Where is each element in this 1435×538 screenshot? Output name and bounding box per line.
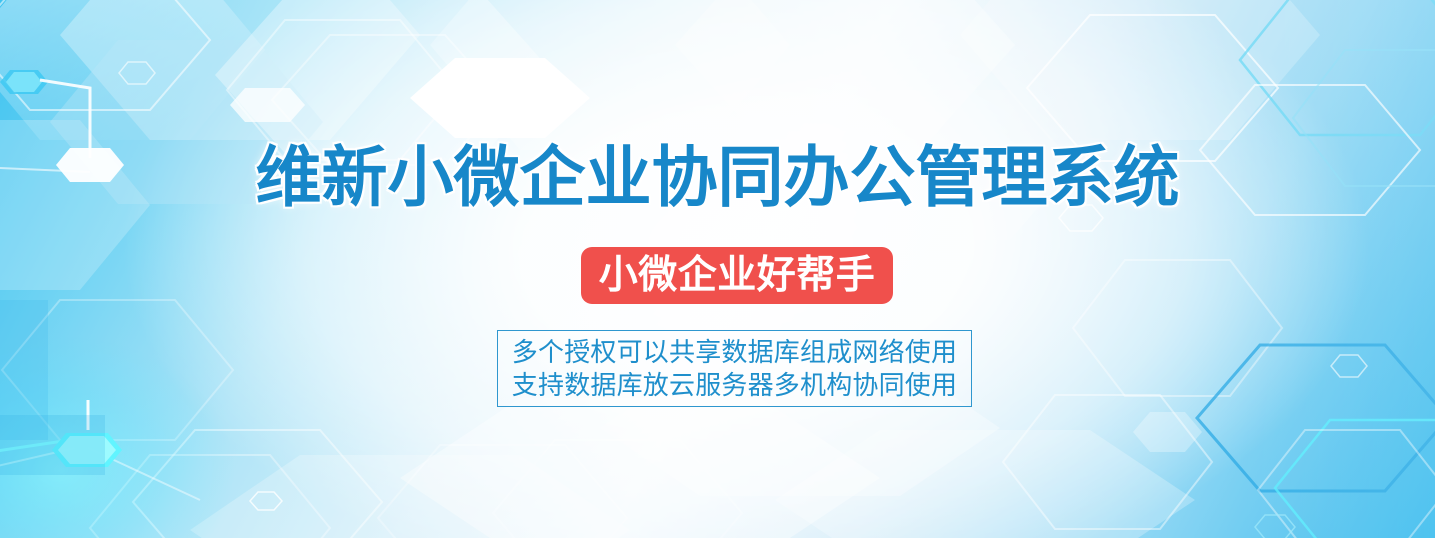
promo-banner: 维新小微企业协同办公管理系统 小微企业好帮手 多个授权可以共享数据库组成网络使用… (0, 0, 1435, 538)
slogan-badge-label: 小微企业好帮手 (599, 256, 876, 296)
page-title: 维新小微企业协同办公管理系统 (0, 141, 1435, 213)
banner-content: 维新小微企业协同办公管理系统 小微企业好帮手 多个授权可以共享数据库组成网络使用… (0, 0, 1435, 538)
feature-line-2: 支持数据库放云服务器多机构协同使用 (512, 369, 957, 402)
feature-line-1: 多个授权可以共享数据库组成网络使用 (512, 336, 957, 369)
slogan-badge: 小微企业好帮手 (581, 247, 893, 304)
feature-callout-box: 多个授权可以共享数据库组成网络使用 支持数据库放云服务器多机构协同使用 (497, 330, 972, 407)
